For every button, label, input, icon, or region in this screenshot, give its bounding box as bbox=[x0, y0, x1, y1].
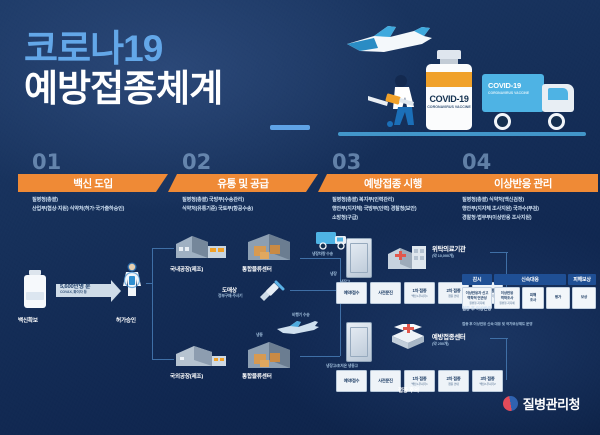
flow-label-domestic-factory: 국내공장(제조) bbox=[170, 265, 203, 273]
process-sublabel: 백신1·주사기1 bbox=[411, 294, 427, 298]
flow-sub-center: (약 250개) bbox=[432, 341, 449, 347]
kdca-logo: 질병관리청 bbox=[503, 394, 580, 413]
panel-header-compensation: 피해보상 bbox=[568, 274, 596, 285]
supply-arrow-source: COVAX, 화이자 등 bbox=[60, 290, 87, 295]
doctor-approval-icon bbox=[118, 260, 146, 300]
factory-icon-overseas bbox=[172, 340, 228, 370]
process-box-bottom-1[interactable]: 예약/접수 bbox=[336, 370, 367, 392]
process-sublabel: 접종 안내 bbox=[448, 382, 459, 386]
step-agencies: 질병청(총괄) 국방부(수송관리) 식약처(유통기준) 국토부(항공수송) bbox=[182, 196, 324, 214]
step-banner[interactable]: 예방접종 시행 bbox=[318, 174, 468, 192]
vaccination-center-icon bbox=[388, 324, 428, 354]
title-line-1: 코로나19 bbox=[24, 30, 222, 68]
ground-line bbox=[338, 132, 586, 136]
vial-body bbox=[24, 275, 46, 308]
step-number: 02 bbox=[182, 150, 211, 174]
panel-cell-text: 이상반응 역학조사 bbox=[501, 291, 513, 301]
connector-hub-bottom-out bbox=[300, 356, 340, 357]
connector-vertical-main bbox=[152, 248, 153, 360]
vaccine-truck-icon: COVID-19 CORONAVIRUS VACCINE bbox=[482, 74, 582, 130]
panel-cell-text: 보상 bbox=[581, 295, 587, 300]
flow-label-store-bottom: 냉장고/초저온 냉동고 bbox=[326, 364, 358, 369]
airplane-icon bbox=[344, 24, 436, 58]
fridge-icon-top bbox=[346, 238, 372, 278]
flow-label-secure: 백신확보 bbox=[18, 316, 38, 324]
flow-label-hub-top: 통합물류센터 bbox=[242, 265, 272, 273]
warehouse-icon-top bbox=[246, 232, 292, 262]
clinic-icon bbox=[386, 238, 428, 272]
process-label: 2차 접종 bbox=[446, 376, 460, 382]
step-04[interactable]: 04 이상반응 관리 질병청(총괄) 식약처(백신검정) 행안부(지자체 조사지… bbox=[448, 150, 598, 226]
flow-label-cold-top: 냉장 bbox=[330, 272, 337, 277]
step-agencies: 질병청(총괄) 식약처(백신검정) 행안부(지자체 조사지원) 국과수(부검) … bbox=[462, 196, 600, 222]
doctor-with-syringe-icon bbox=[368, 72, 424, 130]
process-label: 1차 접종 bbox=[412, 376, 426, 382]
step-label: 예방접종 시행 bbox=[364, 176, 422, 191]
panel-cell-text: 피해 조사 bbox=[530, 293, 536, 303]
vial-liquid bbox=[426, 72, 472, 87]
flow-label-cold-bottom: 냉동 bbox=[256, 333, 263, 338]
vial-label: COVID-19 bbox=[426, 94, 472, 104]
flow-label-wholesaler: 도매상 bbox=[222, 286, 237, 294]
step-03[interactable]: 03 예방접종 시행 질병청(총괄) 복지부(인력관리) 행안부(지자체) 국방… bbox=[318, 150, 468, 226]
panel-cell-5[interactable]: 보상 bbox=[572, 287, 596, 309]
warehouse-icon-bottom bbox=[246, 340, 292, 370]
page-title: 코로나19 예방접종체계 bbox=[24, 30, 222, 108]
step-agencies: 질병청(총괄) 산업부(협상·지원) 식약처(허가·국가출하승인) bbox=[32, 196, 174, 214]
flow-bottom-tag-label: 접종 후의 bbox=[398, 386, 419, 394]
title-line-2: 예방접종체계 bbox=[24, 70, 222, 108]
panel-cell-text: 평가 bbox=[555, 295, 561, 300]
connector-to-overseas bbox=[152, 359, 174, 360]
panel-cell-sub: 질병청·지자체 bbox=[499, 302, 514, 306]
step-number: 03 bbox=[332, 150, 361, 174]
panel-cell-2[interactable]: 이상반응 역학조사 질병청·지자체 bbox=[494, 287, 520, 309]
flow-vaccine-vial-icon bbox=[24, 270, 46, 308]
step-banner-row: 01 백신 도입 질병청(총괄) 산업부(협상·지원) 식약처(허가·국가출하승… bbox=[0, 150, 600, 226]
process-box-top-3[interactable]: 1차 접종 백신1·주사기1 bbox=[404, 282, 435, 304]
connector-hub-top-out bbox=[300, 258, 340, 259]
step-banner[interactable]: 이상반응 관리 bbox=[448, 174, 598, 192]
hero-illustration: COVID-19 CORONAVIRUS VACCINE COVID-19 CO… bbox=[330, 18, 592, 144]
process-box-top-1[interactable]: 예약/접수 bbox=[336, 282, 367, 304]
flow-sub-entrusted: (약 10,000개) bbox=[432, 253, 454, 259]
process-box-bottom-5[interactable]: 3차 접종 백신2·주사기2 bbox=[472, 370, 503, 392]
process-label: 사전문진 bbox=[378, 290, 393, 296]
flow-label-overseas-factory: 국외공장(제조) bbox=[170, 372, 203, 380]
process-box-bottom-2[interactable]: 사전문진 bbox=[370, 370, 401, 392]
process-label: 2차 접종 bbox=[446, 288, 460, 294]
vial-cap bbox=[437, 50, 461, 59]
process-box-top-2[interactable]: 사전문진 bbox=[370, 282, 401, 304]
vial-body: COVID-19 CORONAVIRUS VACCINE bbox=[426, 64, 472, 130]
step-banner[interactable]: 유통 및 공급 bbox=[168, 174, 318, 192]
syringe-icon bbox=[258, 280, 286, 302]
process-label: 예약/접수 bbox=[344, 378, 360, 384]
flow-label-hub-bottom: 통합물류센터 bbox=[242, 372, 272, 380]
truck-wheel-front bbox=[548, 113, 565, 130]
infographic-root: 코로나19 예방접종체계 COVID-19 CORONAVIRUS VACCIN… bbox=[0, 0, 600, 435]
flow-label-entrusted: 위탁의료기관 bbox=[432, 244, 465, 253]
flow-label-transport-plane: 비행기 수송 bbox=[292, 313, 310, 318]
process-label: 예약/접수 bbox=[344, 290, 360, 296]
airplane-icon-transport bbox=[276, 320, 320, 336]
panel-cell-4[interactable]: 평가 bbox=[546, 287, 570, 309]
panel-cell-sub: 질병청·지자체 bbox=[469, 302, 484, 306]
panel-cell-text: 이상반응자 신고 역학적 연관성 bbox=[466, 291, 489, 301]
connector-center-to-panel bbox=[506, 338, 507, 380]
flow-label-approval: 허가승인 bbox=[116, 316, 136, 324]
connector-wholesaler-out bbox=[290, 290, 340, 291]
step-number: 04 bbox=[462, 150, 491, 174]
vial-sticker bbox=[26, 292, 44, 300]
freezer-door bbox=[350, 327, 368, 357]
connector-entrusted-h bbox=[490, 252, 508, 253]
flow-label-transport-truck: 냉장차량 수송 bbox=[312, 252, 333, 257]
fridge-door bbox=[350, 243, 368, 273]
panel-cell-3[interactable]: 피해 조사 bbox=[522, 287, 544, 309]
supply-arrow-quantity: 5,600만명 분 bbox=[60, 281, 90, 290]
step-banner[interactable]: 백신 도입 bbox=[18, 174, 168, 192]
connector-center-h bbox=[490, 338, 508, 339]
vaccine-vial-icon: COVID-19 CORONAVIRUS VACCINE bbox=[426, 50, 472, 130]
freezer-icon-bottom bbox=[346, 322, 372, 362]
truck-sublabel: CORONAVIRUS VACCINE bbox=[488, 91, 529, 96]
flow-sub-wholesaler: 정부구매·주사기 bbox=[218, 294, 243, 299]
process-label: 사전문진 bbox=[378, 378, 393, 384]
factory-icon bbox=[172, 232, 228, 262]
adverse-response-panel: 감시 신속대응 피해보상 이상반응자 신고 역학적 연관성 질병청·지자체 이상… bbox=[462, 274, 596, 309]
panel-header-rapid-response: 신속대응 bbox=[494, 274, 566, 285]
truck-label: COVID-19 bbox=[488, 81, 521, 90]
refrigerated-truck-icon bbox=[316, 230, 350, 250]
process-sublabel: 접종 안내 bbox=[448, 294, 459, 298]
truck-window bbox=[548, 88, 568, 100]
vial-sublabel: CORONAVIRUS VACCINE bbox=[426, 105, 472, 110]
truck-cargo: COVID-19 CORONAVIRUS VACCINE bbox=[482, 74, 544, 112]
step-01[interactable]: 01 백신 도입 질병청(총괄) 산업부(협상·지원) 식약처(허가·국가출하승… bbox=[18, 150, 168, 226]
process-label: 3차 접종 bbox=[480, 376, 494, 382]
process-label: 1차 접종 bbox=[412, 288, 426, 294]
flow-label-center: 예방접종센터 bbox=[432, 332, 465, 341]
truck-wheel-rear bbox=[494, 113, 511, 130]
logo-text: 질병관리청 bbox=[523, 394, 580, 413]
process-box-bottom-4[interactable]: 2차 접종 접종 안내 bbox=[438, 370, 469, 392]
connector-approval-out bbox=[146, 283, 153, 284]
connector-vertical-right bbox=[340, 258, 341, 356]
after-vaccination-label: 접종 후 이상반응 bbox=[462, 306, 491, 312]
title-underline bbox=[270, 125, 310, 130]
step-label: 이상반응 관리 bbox=[494, 176, 552, 191]
panel-header-surveillance: 감시 bbox=[462, 274, 492, 285]
process-sublabel: 백신2·주사기2 bbox=[479, 382, 495, 386]
flow-diagram: 백신확보 5,600만명 분 COVAX, 화이자 등 허가승인 bbox=[0, 228, 600, 393]
panel-header-row: 감시 신속대응 피해보상 bbox=[462, 274, 596, 285]
step-number: 01 bbox=[32, 150, 61, 174]
connector-to-domestic bbox=[152, 248, 174, 249]
panel-note: 접종 후 이상반응 신속 대응 및 국가보상제도 운영 bbox=[462, 322, 532, 327]
step-02[interactable]: 02 유통 및 공급 질병청(총괄) 국방부(수송관리) 식약처(유통기준) 국… bbox=[168, 150, 318, 226]
taegeuk-icon bbox=[503, 396, 518, 411]
step-label: 백신 도입 bbox=[73, 176, 113, 191]
step-label: 유통 및 공급 bbox=[217, 176, 268, 191]
